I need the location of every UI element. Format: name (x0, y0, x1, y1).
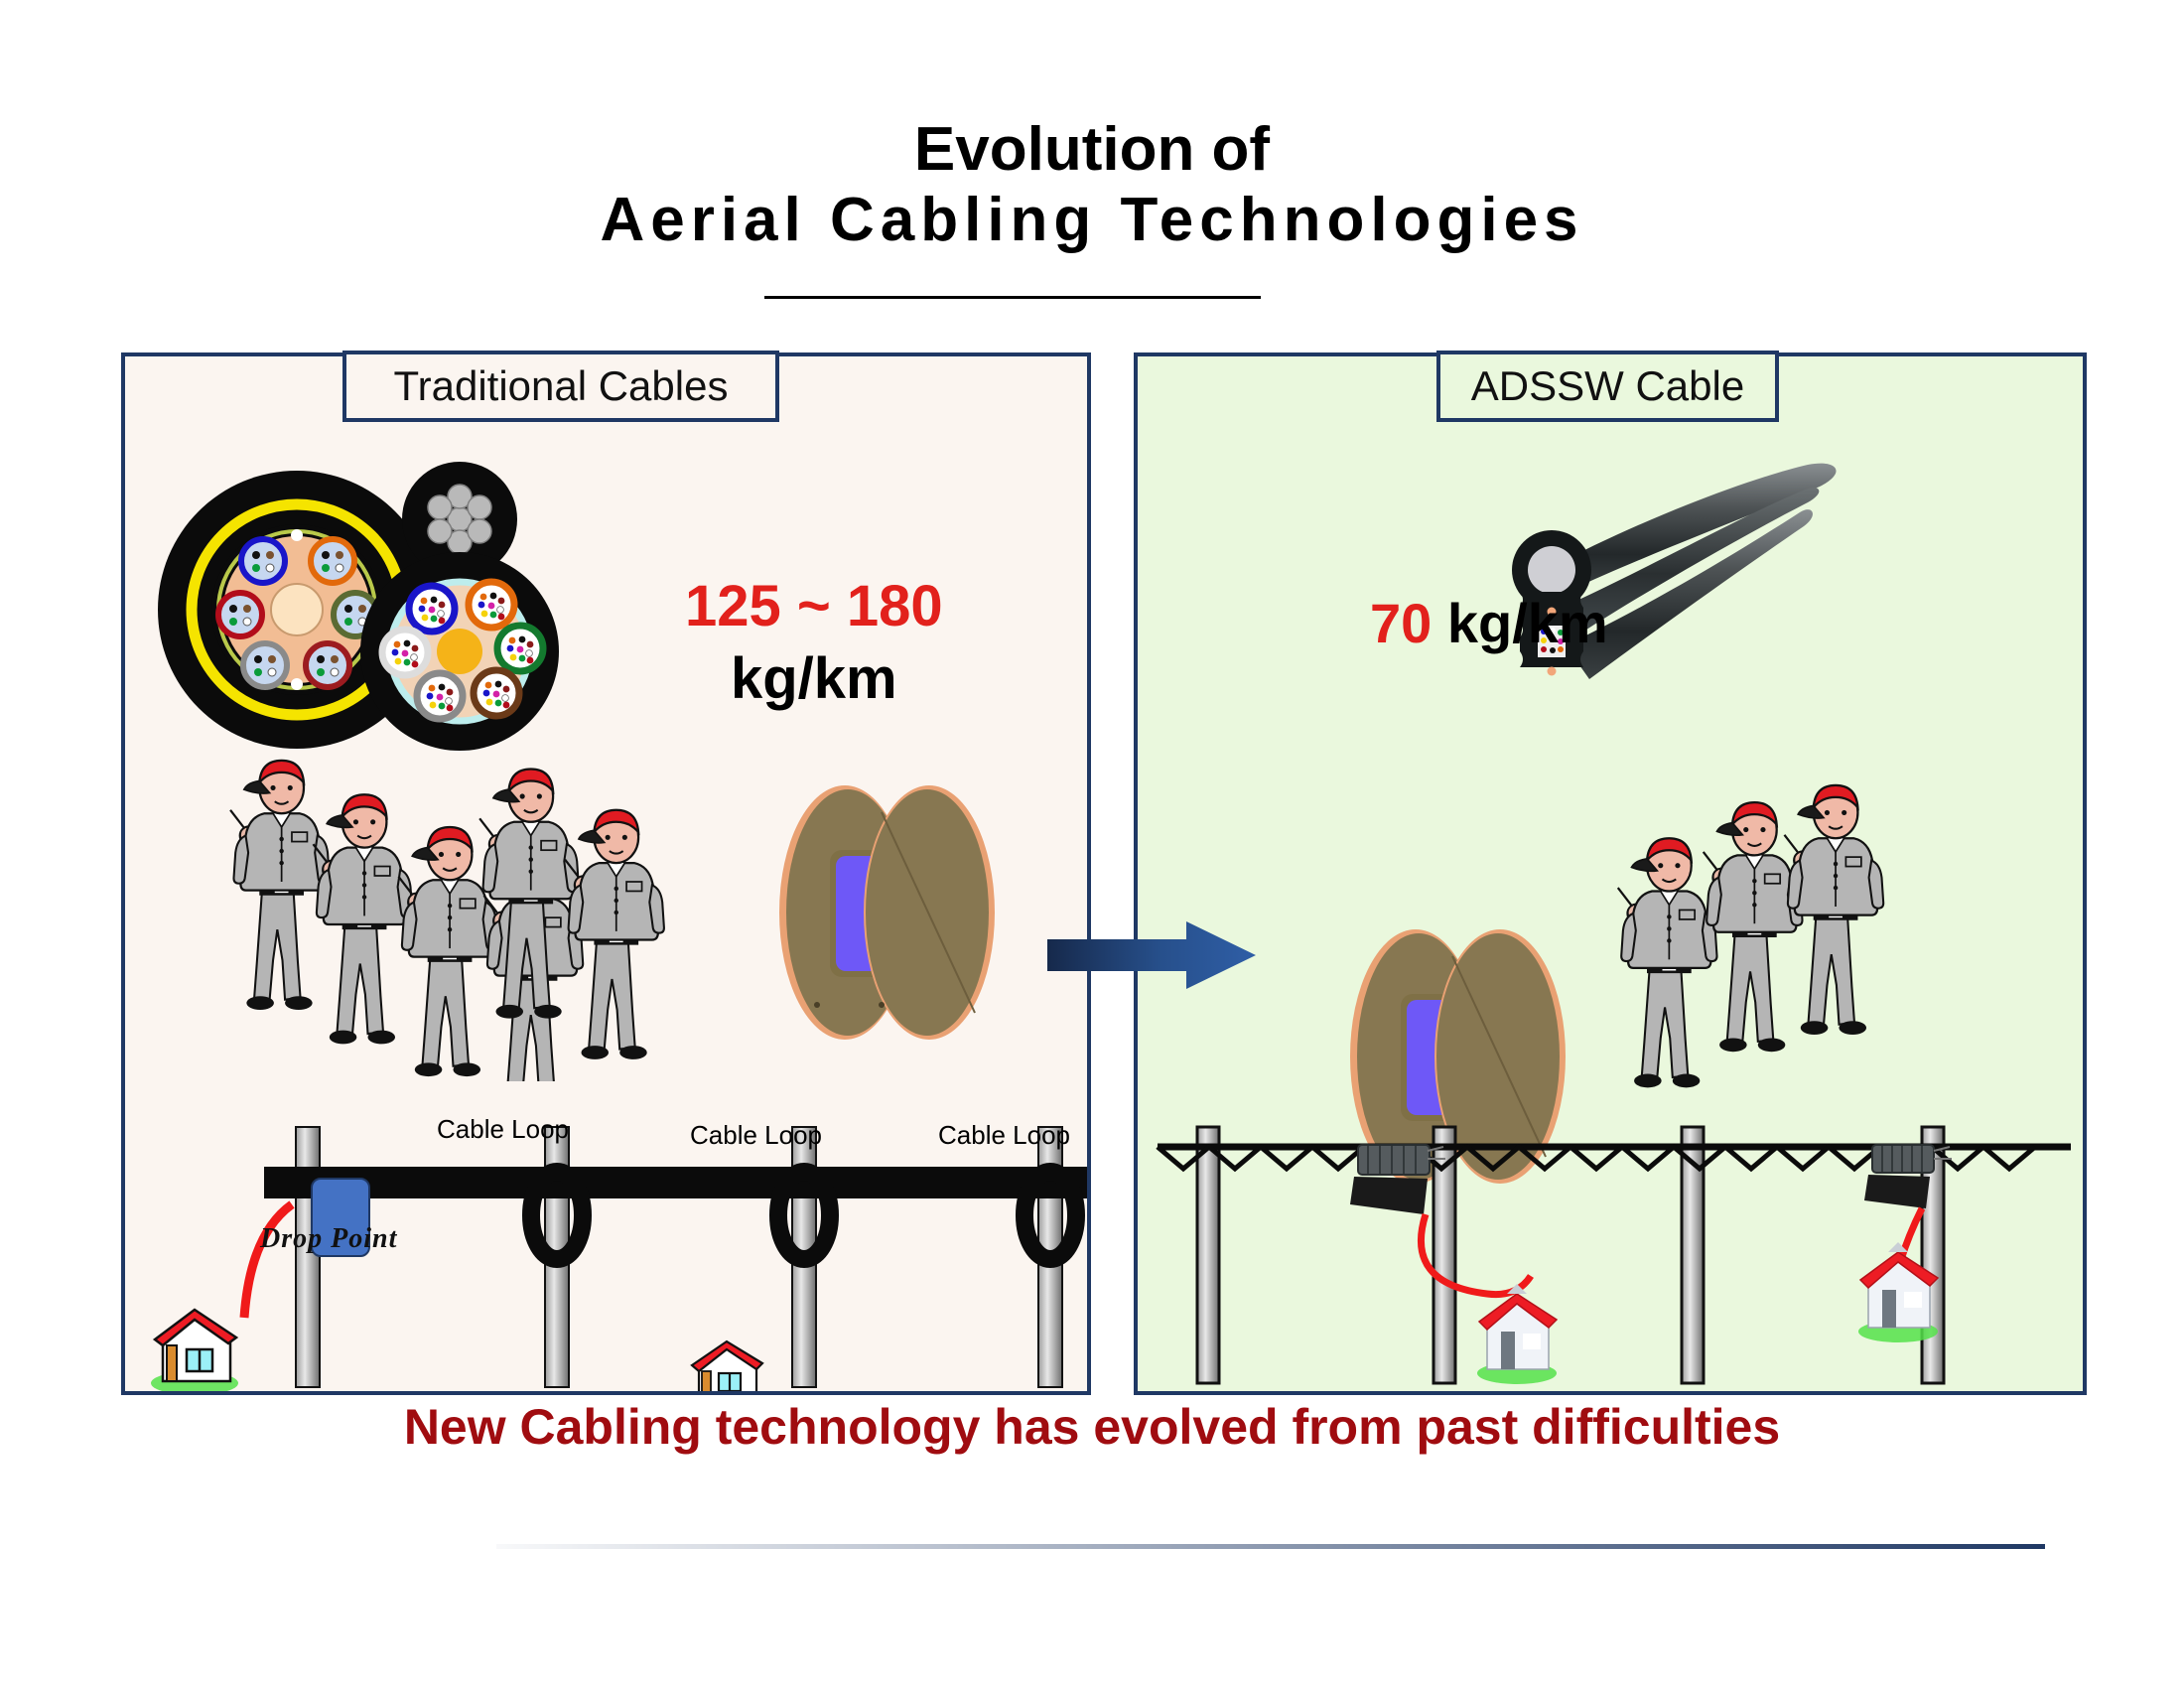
aerial-cable-scene-adssw (1138, 1121, 2087, 1395)
panel-header-adssw-label: ADSSW Cable (1471, 362, 1744, 410)
aerial-cable-scene-traditional (125, 1121, 1091, 1395)
title-line-2: Aerial Cabling Technologies (600, 182, 1583, 259)
weight-label-traditional: 125 ~ 180 kg/km (685, 571, 943, 715)
page-title: Evolution of Aerial Cabling Technologies (0, 117, 2184, 259)
weight-value-traditional: 125 ~ 180 (685, 571, 943, 643)
title-line-1: Evolution of (0, 117, 2184, 182)
figure-8-cable-cross-section (345, 458, 584, 756)
weight-unit-adssw: kg/km (1447, 592, 1608, 654)
worker-group-adssw (1604, 778, 2001, 1096)
drop-point-label: Drop Point (260, 1223, 397, 1255)
cable-loop-label-3: Cable Loop (938, 1120, 1070, 1151)
panel-adssw-cable (1134, 352, 2087, 1395)
panel-header-traditional-label: Traditional Cables (394, 362, 729, 410)
weight-label-adssw: 70 kg/km (1370, 591, 1608, 655)
panel-header-traditional: Traditional Cables (342, 351, 779, 422)
bottom-divider (496, 1544, 2045, 1549)
weight-value-adssw: 70 (1370, 592, 1432, 654)
worker-group-traditional (133, 754, 749, 1081)
panel-header-adssw: ADSSW Cable (1436, 351, 1779, 422)
cable-reel-traditional (770, 778, 1009, 1047)
cable-loop-label-2: Cable Loop (690, 1120, 822, 1151)
weight-unit-traditional: kg/km (685, 643, 943, 716)
cable-loop-label-1: Cable Loop (437, 1114, 569, 1145)
title-underline (764, 296, 1261, 299)
evolution-arrow (1047, 921, 1256, 989)
caption: New Cabling technology has evolved from … (0, 1398, 2184, 1456)
